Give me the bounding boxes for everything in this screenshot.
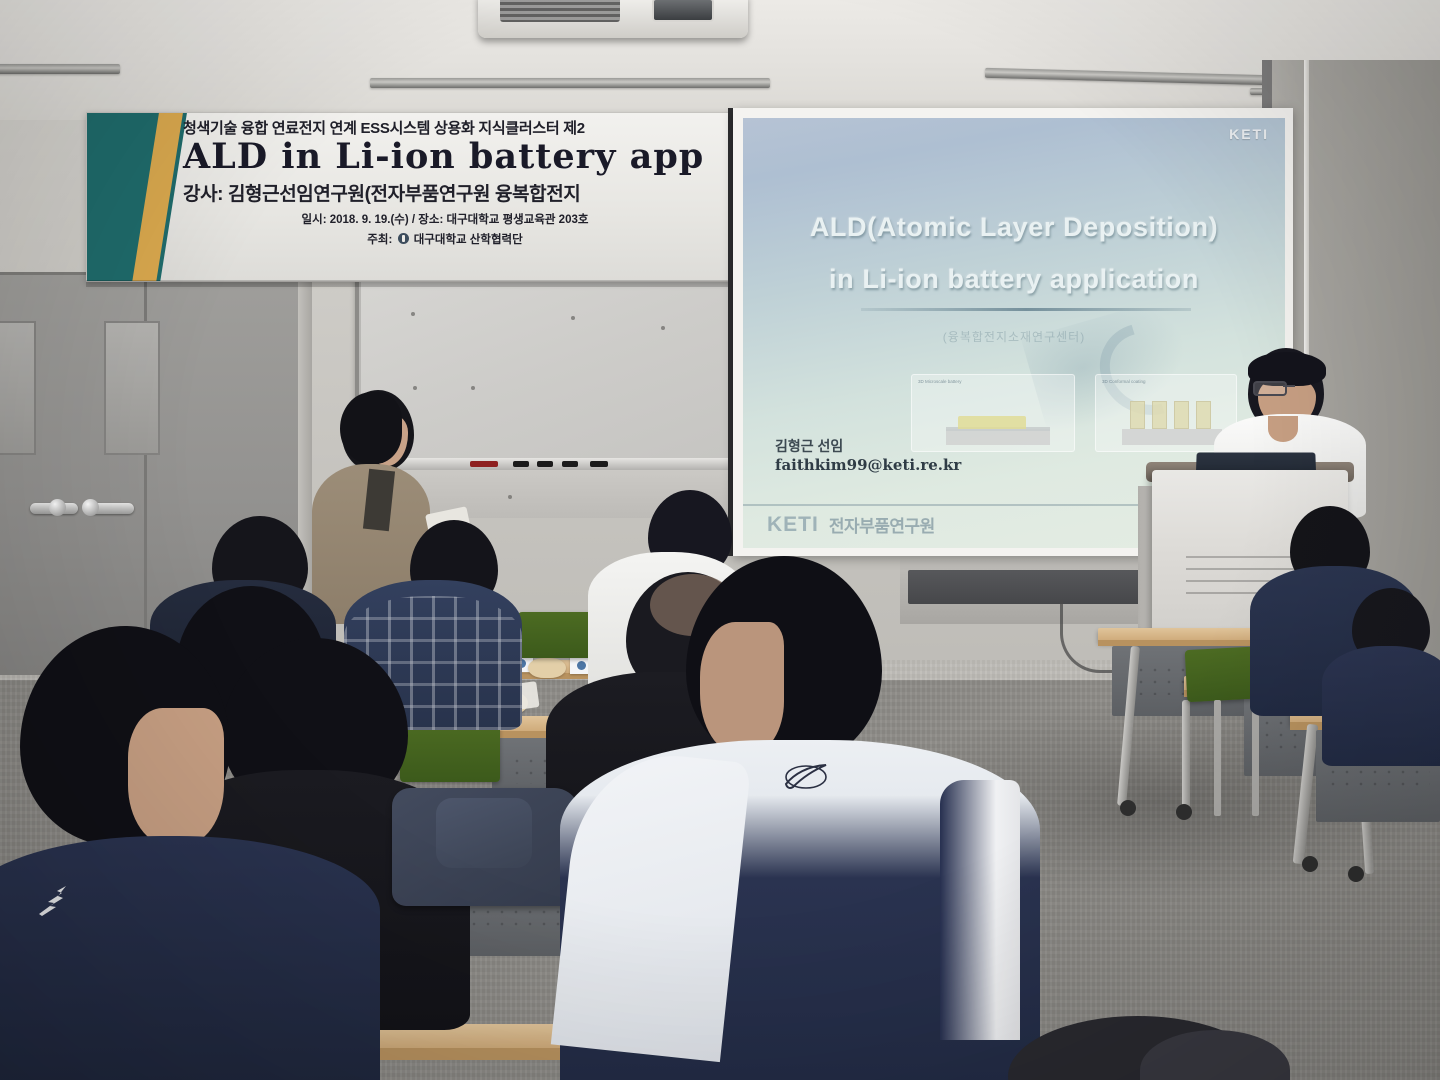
chair-leg	[1214, 700, 1221, 816]
diagram-fin	[1174, 401, 1189, 429]
slide-keti-watermark: KETI	[1229, 126, 1269, 142]
slide-presenter-email: faithkim99@keti.re.kr	[775, 456, 961, 474]
whiteboard-marker[interactable]	[513, 461, 529, 467]
slide-diagram-right-caption: 3D Conformal coating	[1102, 379, 1146, 384]
diagram-fin	[1196, 401, 1211, 429]
university-emblem-icon	[398, 233, 409, 244]
slide-footer-org: 전자부품연구원	[829, 512, 935, 537]
diagram-substrate	[1122, 429, 1222, 445]
desk-caster	[1176, 804, 1192, 820]
slide-presenter-name: 김형근 선임	[775, 436, 843, 456]
door-glass-pane	[0, 321, 36, 455]
desk-leg	[1182, 700, 1190, 810]
diagram-fin	[1130, 401, 1145, 429]
banner-host-label: 주최:	[367, 234, 392, 246]
slide-title-line-1: ALD(Atomic Layer Deposition)	[743, 212, 1285, 243]
diagram-substrate	[946, 429, 1050, 445]
ceiling-light	[0, 64, 120, 74]
nike-swoosh-icon	[784, 764, 830, 790]
chair-leg	[1252, 704, 1259, 816]
ceiling-light	[370, 78, 770, 88]
desk-caster	[1120, 800, 1136, 816]
banner-datetime-venue: 일시: 2018. 9. 19.(수) / 장소: 대구대학교 평생교육관 20…	[183, 211, 733, 227]
bread-roll[interactable]	[528, 658, 566, 678]
whiteboard-marker[interactable]	[590, 461, 608, 467]
banner-host-org: 대구대학교 산학협력단	[414, 234, 523, 246]
audience-shoulders	[1322, 646, 1440, 766]
standing-woman-hair-side	[340, 392, 402, 464]
diagram-fin	[1152, 401, 1167, 429]
door-glass-pane	[104, 321, 160, 455]
lecture-hall-photo: 청색기술 융합 연료전지 연계 ESS시스템 상용화 지식클러스터 제2 ALD…	[0, 0, 1440, 1080]
jumpman-logo-icon	[36, 884, 78, 920]
banner-shadow	[86, 280, 736, 287]
desk-caster	[1302, 856, 1318, 872]
slide-title-line-2: in Li-ion battery application	[743, 264, 1285, 295]
wall-mark	[508, 495, 512, 499]
banner-host-line: 주최: 대구대학교 산학협력단	[183, 231, 733, 247]
desk-caster	[1348, 866, 1364, 882]
slide-footer-keti-logo: KETI	[767, 513, 819, 537]
backpack-front-pocket	[436, 798, 532, 868]
whiteboard-marker[interactable]	[562, 461, 578, 467]
slide-diagram-left-caption: 3D Microscale battery	[918, 379, 962, 384]
event-banner: 청색기술 융합 연료전지 연계 ESS시스템 상용화 지식클러스터 제2 ALD…	[86, 112, 738, 282]
whiteboard-marker[interactable]	[470, 461, 498, 467]
presenter-glasses-icon	[1253, 381, 1287, 396]
slide-diagram-left: 3D Microscale battery	[911, 374, 1075, 452]
whiteboard-marker[interactable]	[537, 461, 553, 467]
banner-line-1: 청색기술 융합 연료전지 연계 ESS시스템 상용화 지식클러스터 제2	[183, 117, 733, 138]
carton-logo-icon	[577, 661, 586, 670]
projector-lens	[652, 0, 714, 22]
slide-subtitle: (융복합전지소재연구센터)	[743, 328, 1285, 345]
audience-neck-face	[700, 622, 784, 754]
presenter-neck	[1268, 416, 1298, 442]
presenter-glasses-bridge	[1283, 385, 1295, 387]
projector-vent	[500, 0, 620, 22]
ceiling-projector	[478, 0, 748, 38]
diagram-active-film	[958, 416, 1026, 429]
banner-speaker-line: 강사: 김형근선임연구원(전자부품연구원 융복합전지	[183, 179, 733, 206]
chair[interactable]	[400, 722, 500, 782]
door-knob-base	[82, 499, 99, 516]
audience-arm	[940, 780, 1020, 1040]
door-knob-base	[49, 499, 66, 516]
banner-title: ALD in Li-ion battery app	[183, 139, 733, 176]
slide-footer: KETI 전자부품연구원	[767, 512, 935, 537]
jordan-navy-shirt	[0, 836, 380, 1080]
audience-neck-face	[128, 708, 224, 846]
